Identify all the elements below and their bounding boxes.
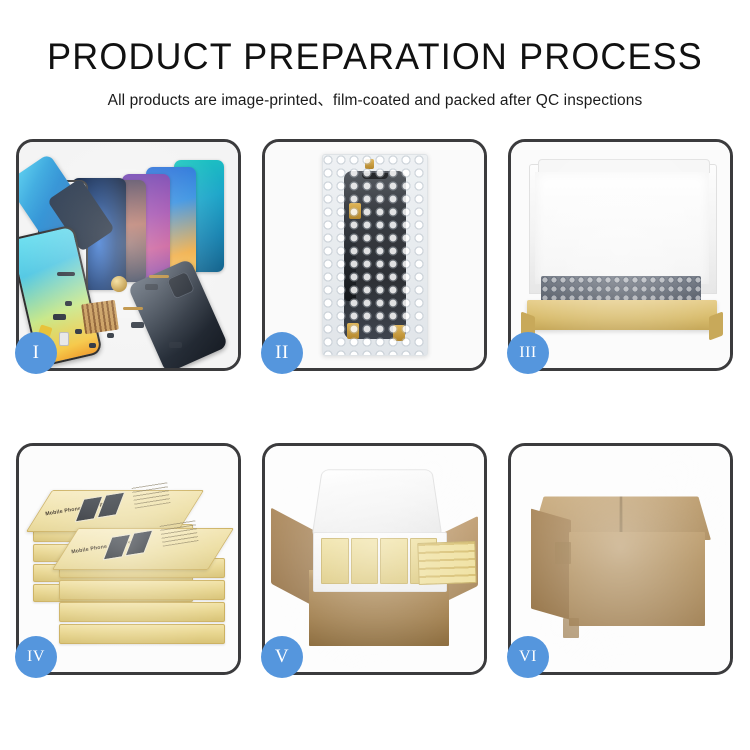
- step-panel-1[interactable]: I: [16, 139, 241, 371]
- spare-part: [89, 343, 96, 348]
- step-image-5: [265, 446, 484, 672]
- step-panel-4[interactable]: Mobile Phone Spare Parts Mobile Phone Sp…: [16, 443, 241, 675]
- step-image-2: [265, 142, 484, 368]
- foam-sheet: [535, 172, 709, 284]
- step-panel-3[interactable]: III: [508, 139, 733, 371]
- carton-tape: [555, 542, 571, 564]
- spare-part: [59, 332, 69, 346]
- step-badge-2: II: [261, 332, 303, 374]
- step-badge-1: I: [15, 332, 57, 374]
- spare-part: [107, 333, 114, 338]
- step-image-4: Mobile Phone Spare Parts Mobile Phone Sp…: [19, 446, 238, 672]
- step-badge-4: IV: [15, 636, 57, 678]
- step-panel-5[interactable]: V: [262, 443, 487, 675]
- spare-part: [53, 314, 66, 320]
- carton-tape: [563, 618, 579, 638]
- step-image-1: [19, 142, 238, 368]
- stacked-box: [59, 580, 225, 600]
- page-subtitle: All products are image-printed、film-coat…: [0, 88, 750, 110]
- spare-part: [145, 284, 158, 290]
- spare-part: [149, 275, 169, 278]
- page-header: PRODUCT PREPARATION PROCESS All products…: [0, 0, 750, 110]
- step-panel-6[interactable]: VI: [508, 443, 733, 675]
- step-image-3: [511, 142, 730, 368]
- spare-part: [75, 329, 82, 334]
- spare-part: [57, 272, 75, 276]
- process-steps-grid: I II III: [16, 139, 734, 675]
- packed-box: [351, 538, 379, 584]
- gold-connector: [365, 159, 374, 169]
- packed-box: [380, 538, 408, 584]
- carton-front: [569, 532, 705, 626]
- gold-connector: [347, 323, 359, 339]
- gold-connector: [393, 325, 405, 341]
- step-panel-2[interactable]: II: [262, 139, 487, 371]
- gold-connector: [349, 203, 361, 219]
- spare-part: [169, 342, 182, 348]
- bubble-wrap-bag: [322, 154, 428, 356]
- vibration-motor: [111, 276, 127, 292]
- step-badge-3: III: [507, 332, 549, 374]
- step-badge-6: VI: [507, 636, 549, 678]
- step-image-6: [511, 446, 730, 672]
- logic-board-chip: [81, 300, 119, 334]
- foam-lid: [311, 469, 442, 538]
- stacked-box: [59, 624, 225, 644]
- spare-part: [131, 322, 144, 328]
- carton-side: [531, 509, 571, 620]
- flex-cable: [345, 213, 356, 301]
- stacked-box: [59, 602, 225, 622]
- spare-part: [123, 307, 143, 310]
- box-stack: Mobile Phone Spare Parts Mobile Phone Sp…: [29, 472, 229, 648]
- spare-part: [65, 301, 72, 306]
- packed-box: [321, 538, 349, 584]
- kraft-box-base: [527, 300, 717, 330]
- page-title: PRODUCT PREPARATION PROCESS: [11, 38, 739, 75]
- step-badge-5: V: [261, 636, 303, 678]
- packed-box-row: [417, 541, 476, 585]
